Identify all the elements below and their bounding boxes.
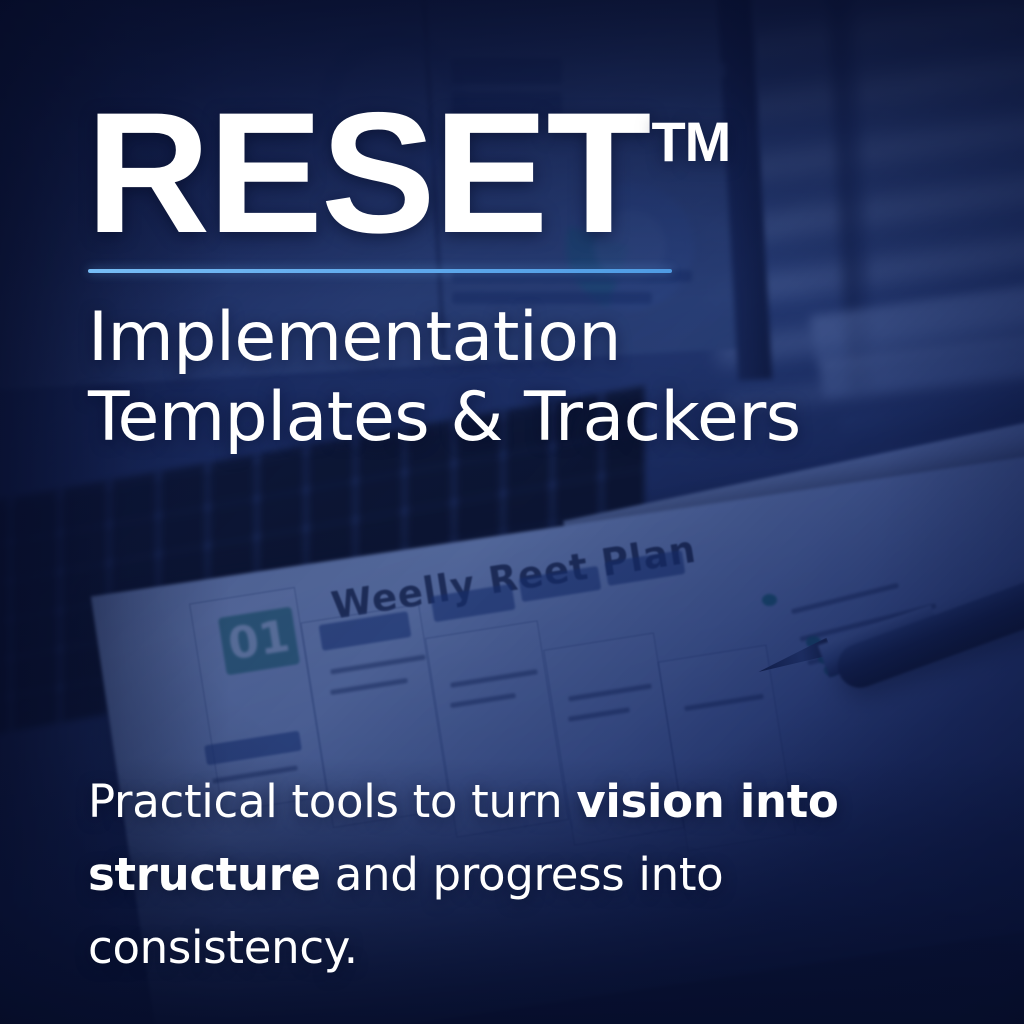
tagline: Practical tools to turn vision into stru… xyxy=(88,766,988,985)
trademark-symbol: TM xyxy=(651,114,730,170)
subtitle-line-1: Implementation xyxy=(88,298,801,378)
brand-wordmark: RESET TM xyxy=(86,100,730,248)
subtitle: Implementation Templates & Trackers xyxy=(88,298,801,457)
text-content: RESET TM Implementation Templates & Trac… xyxy=(0,0,1024,1024)
tagline-lead: Practical tools to turn xyxy=(88,775,576,828)
brand-name: RESET xyxy=(86,100,649,248)
promo-card: Weelly Reet Plan 01 xyxy=(0,0,1024,1024)
subtitle-line-2: Templates & Trackers xyxy=(88,378,801,458)
accent-divider-rule xyxy=(88,269,672,273)
